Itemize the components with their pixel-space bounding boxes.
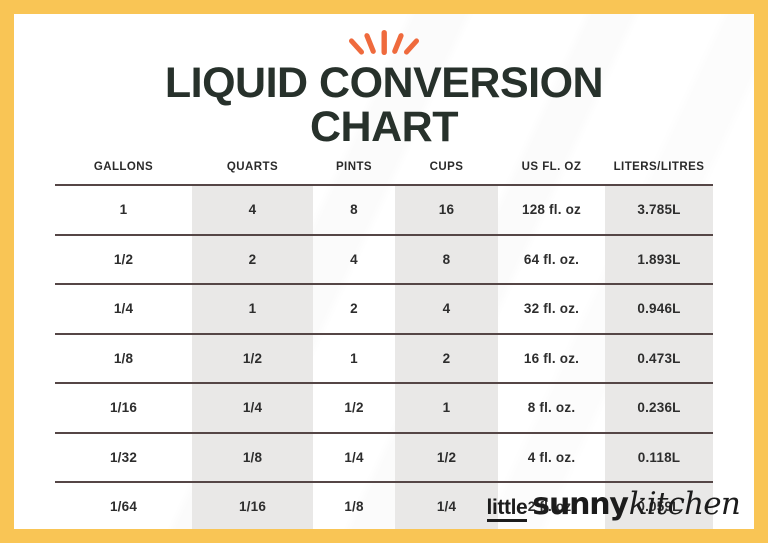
cell-quarts: 1/8 bbox=[192, 433, 313, 483]
cell-pints: 8 bbox=[313, 185, 395, 235]
table-row: 1/412432 fl. oz.0.946L bbox=[55, 284, 713, 334]
cell-quarts: 2 bbox=[192, 235, 313, 285]
cell-liters: 0.236L bbox=[605, 383, 713, 433]
cell-quarts: 1 bbox=[192, 284, 313, 334]
title-line-1: LIQUID CONVERSION bbox=[14, 61, 754, 105]
cell-quarts: 1/16 bbox=[192, 482, 313, 529]
cell-cups: 2 bbox=[395, 334, 498, 384]
cell-us-fl-oz: 128 fl. oz bbox=[498, 185, 605, 235]
cell-liters: 0.118L bbox=[605, 433, 713, 483]
cell-pints: 1/8 bbox=[313, 482, 395, 529]
cell-cups: 1 bbox=[395, 383, 498, 433]
cell-liters: 0.473L bbox=[605, 334, 713, 384]
cell-pints: 1 bbox=[313, 334, 395, 384]
cell-gallons: 1 bbox=[55, 185, 192, 235]
liquid-conversion-poster: LIQUID CONVERSION CHART GALLONS QUARTS P… bbox=[0, 0, 768, 543]
conversion-table-wrapper: GALLONS QUARTS PINTS CUPS US FL. OZ LITE… bbox=[55, 150, 713, 529]
column-header-us-fl-oz: US FL. OZ bbox=[498, 150, 605, 185]
logo-word-little: little bbox=[487, 497, 528, 522]
table-row: 1/81/21216 fl. oz.0.473L bbox=[55, 334, 713, 384]
logo-word-sunny: sunny bbox=[532, 487, 628, 522]
column-header-quarts: QUARTS bbox=[192, 150, 313, 185]
conversion-table: GALLONS QUARTS PINTS CUPS US FL. OZ LITE… bbox=[55, 150, 713, 529]
cell-gallons: 1/8 bbox=[55, 334, 192, 384]
poster-card: LIQUID CONVERSION CHART GALLONS QUARTS P… bbox=[14, 14, 754, 529]
cell-liters: 1.893L bbox=[605, 235, 713, 285]
brand-logo: little sunny kitchen bbox=[487, 486, 740, 522]
cell-liters: 0.946L bbox=[605, 284, 713, 334]
cell-cups: 1/4 bbox=[395, 482, 498, 529]
cell-cups: 16 bbox=[395, 185, 498, 235]
cell-quarts: 4 bbox=[192, 185, 313, 235]
column-header-pints: PINTS bbox=[313, 150, 395, 185]
cell-pints: 2 bbox=[313, 284, 395, 334]
cell-us-fl-oz: 16 fl. oz. bbox=[498, 334, 605, 384]
cell-cups: 1/2 bbox=[395, 433, 498, 483]
cell-us-fl-oz: 64 fl. oz. bbox=[498, 235, 605, 285]
cell-us-fl-oz: 8 fl. oz. bbox=[498, 383, 605, 433]
cell-pints: 1/4 bbox=[313, 433, 395, 483]
column-header-liters: LITERS/LITRES bbox=[605, 150, 713, 185]
cell-pints: 4 bbox=[313, 235, 395, 285]
cell-quarts: 1/2 bbox=[192, 334, 313, 384]
table-header-row: GALLONS QUARTS PINTS CUPS US FL. OZ LITE… bbox=[55, 150, 713, 185]
table-body: 14816128 fl. oz3.785L1/224864 fl. oz.1.8… bbox=[55, 185, 713, 529]
cell-liters: 3.785L bbox=[605, 185, 713, 235]
table-row: 1/224864 fl. oz.1.893L bbox=[55, 235, 713, 285]
cell-us-fl-oz: 4 fl. oz. bbox=[498, 433, 605, 483]
title-line-2: CHART bbox=[14, 105, 754, 149]
table-row: 1/161/41/218 fl. oz.0.236L bbox=[55, 383, 713, 433]
column-header-cups: CUPS bbox=[395, 150, 498, 185]
cell-cups: 8 bbox=[395, 235, 498, 285]
cell-gallons: 1/4 bbox=[55, 284, 192, 334]
cell-gallons: 1/16 bbox=[55, 383, 192, 433]
page-title: LIQUID CONVERSION CHART bbox=[14, 61, 754, 149]
table-row: 1/321/81/41/24 fl. oz.0.118L bbox=[55, 433, 713, 483]
cell-us-fl-oz: 32 fl. oz. bbox=[498, 284, 605, 334]
cell-pints: 1/2 bbox=[313, 383, 395, 433]
cell-cups: 4 bbox=[395, 284, 498, 334]
cell-gallons: 1/64 bbox=[55, 482, 192, 529]
table-row: 14816128 fl. oz3.785L bbox=[55, 185, 713, 235]
column-header-gallons: GALLONS bbox=[55, 150, 192, 185]
cell-gallons: 1/32 bbox=[55, 433, 192, 483]
cell-quarts: 1/4 bbox=[192, 383, 313, 433]
cell-gallons: 1/2 bbox=[55, 235, 192, 285]
logo-word-kitchen: kitchen bbox=[629, 486, 740, 522]
